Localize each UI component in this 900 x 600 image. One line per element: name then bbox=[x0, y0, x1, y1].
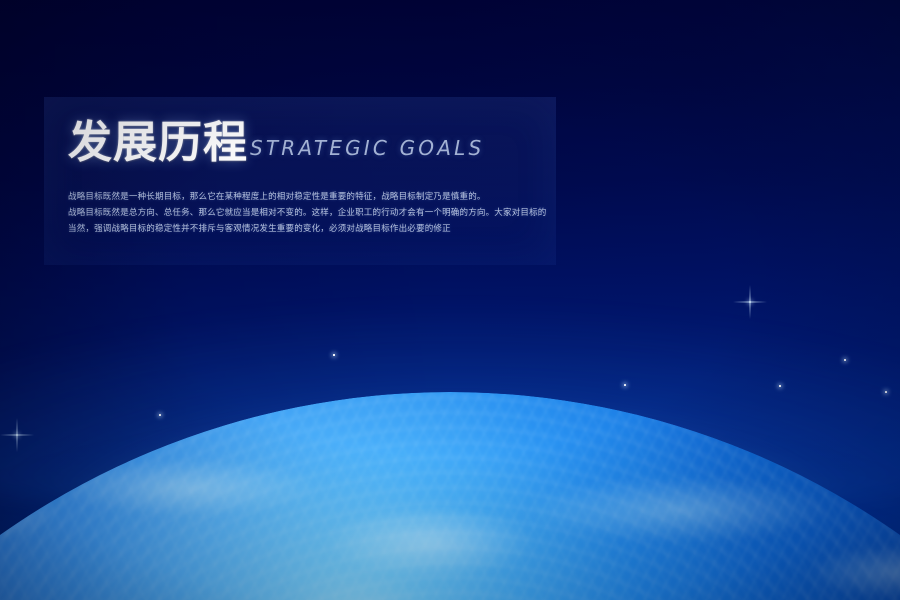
star-right-low bbox=[779, 385, 780, 386]
star-center-low bbox=[624, 384, 626, 386]
description-line-2: 战略目标既然是总方向、总任务、那么它就应当是相对不变的。这样，企业职工的行动才会… bbox=[68, 205, 588, 221]
star-far-right bbox=[885, 391, 887, 393]
star-upper-faint bbox=[333, 354, 334, 355]
hero-banner: 发展历程STRATEGIC GOALS 战略目标既然是一种长期目标，那么它在某种… bbox=[0, 0, 900, 600]
description-line-1: 战略目标既然是一种长期目标，那么它在某种程度上的相对稳定性是重要的特征，战略目标… bbox=[68, 189, 588, 205]
page-title: 发展历程STRATEGIC GOALS bbox=[68, 121, 484, 165]
page-title-english: STRATEGIC GOALS bbox=[250, 136, 484, 160]
description-line-3: 当然，强调战略目标的稳定性并不排斥与客观情况发生重要的变化，必须对战略目标作出必… bbox=[68, 221, 588, 237]
star-right-mid bbox=[844, 359, 845, 360]
star-mid-upper bbox=[749, 301, 751, 303]
page-title-chinese: 发展历程 bbox=[68, 117, 248, 168]
description-paragraph: 战略目标既然是一种长期目标，那么它在某种程度上的相对稳定性是重要的特征，战略目标… bbox=[68, 189, 588, 237]
star-left-upper bbox=[159, 414, 161, 416]
